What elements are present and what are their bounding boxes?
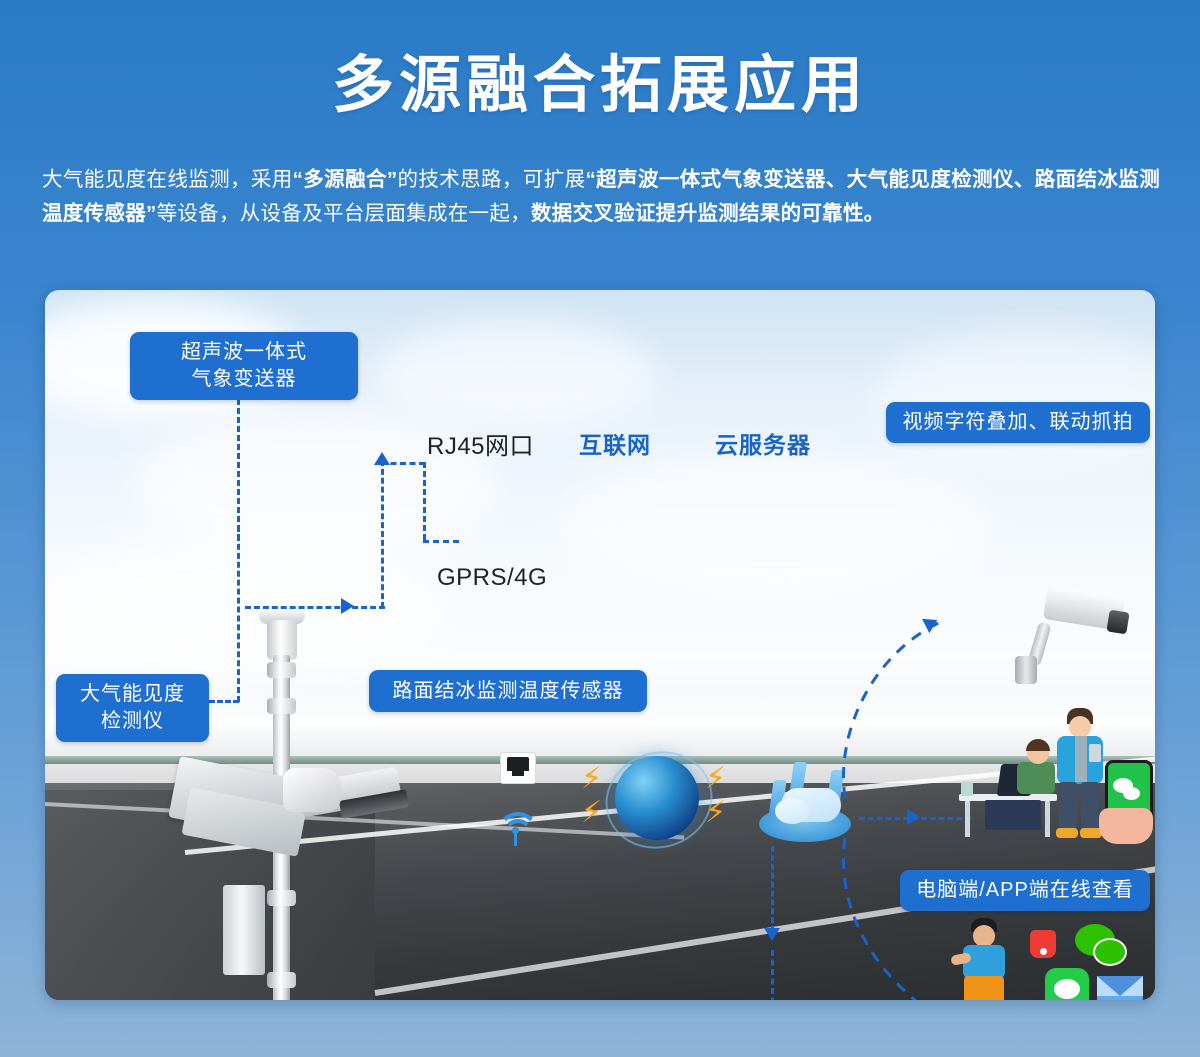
badge-road-ice-temp-sensor[interactable]: 路面结冰监测温度传感器 xyxy=(369,670,647,712)
rj45-icon xyxy=(500,752,536,784)
diagram-panel: RJ45网口 GPRS/4G 互联网 ⚡ ⚡ ⚡ ⚡ 云服务器 xyxy=(45,290,1155,1000)
connector-rise-to-rj45 xyxy=(381,460,384,608)
ultrasonic-sensor-head xyxy=(267,620,297,660)
arrow-camera xyxy=(922,613,941,633)
badge-pc-app-online-view[interactable]: 电脑端/APP端在线查看 xyxy=(900,870,1150,911)
connector-rj45-stub-top xyxy=(381,462,425,465)
rj45-label: RJ45网口 xyxy=(427,426,534,461)
connector-down-to-device xyxy=(771,950,774,1000)
page-title: 多源融合拓展应用 xyxy=(0,52,1200,120)
badge-ultrasonic-weather-transmitter[interactable]: 超声波一体式 气象变送器 xyxy=(130,332,358,400)
desc-seg-6: 数据交叉验证提升监测结果的可靠性。 xyxy=(531,202,885,225)
cloud-decor xyxy=(565,450,985,600)
desc-seg-2: “多源融合” xyxy=(293,168,398,191)
connector-box-right xyxy=(245,606,385,609)
desc-seg-1: 大气能见度在线监测，采用 xyxy=(42,168,293,191)
arrow-cloud-down xyxy=(764,928,780,941)
hand-icon xyxy=(1099,808,1153,844)
pole-collar xyxy=(267,890,296,906)
cloud-decor xyxy=(45,540,445,670)
sensor-hub xyxy=(283,768,341,812)
gprs-4g-label: GPRS/4G xyxy=(437,564,547,592)
email-flap-icon xyxy=(1097,976,1143,996)
badge-video-overlay-capture[interactable]: 视频字符叠加、联动抓拍 xyxy=(886,402,1150,443)
desc-seg-5: 等设备，从设备及平台层面集成在一起， xyxy=(157,202,531,225)
pole-collar xyxy=(267,698,296,714)
wechat-bubbles-icon-2 xyxy=(1123,787,1140,800)
pole-collar xyxy=(267,972,296,988)
alarm-bell-clapper xyxy=(1040,948,1047,955)
camera-lens-icon xyxy=(1106,610,1129,635)
pole-collar xyxy=(267,662,296,678)
wifi-icon xyxy=(497,808,539,848)
desc-seg-3: 的技术思路，可扩展 xyxy=(397,168,585,191)
connector-visibility-down xyxy=(237,526,240,702)
page-description: 大气能见度在线监测，采用“多源融合”的技术思路，可扩展“超声波一体式气象变送器、… xyxy=(42,163,1160,231)
sms-bubble xyxy=(1054,979,1080,999)
arrow-pc xyxy=(907,809,920,825)
equipment-box xyxy=(223,885,265,975)
cloud-decor xyxy=(375,320,655,430)
badge-visibility-detector[interactable]: 大气能见度 检测仪 xyxy=(56,674,209,742)
cloud-decor xyxy=(875,330,1155,470)
connector-ultrasonic xyxy=(237,390,240,540)
connector-gprs-stub xyxy=(423,540,459,543)
cloud-server-cloud-puff-icon xyxy=(775,798,809,824)
internet-label: 互联网 xyxy=(579,426,651,460)
connector-rj45-vert xyxy=(423,462,426,540)
connector-cloud-down xyxy=(771,846,774,932)
alarm-person-icon xyxy=(951,918,1015,1000)
camera-mount xyxy=(1015,656,1037,684)
globe-icon xyxy=(615,756,699,840)
cloud-server-label: 云服务器 xyxy=(715,426,811,460)
arrow-box-right xyxy=(341,598,354,614)
wechat-icon-2 xyxy=(1093,938,1127,966)
